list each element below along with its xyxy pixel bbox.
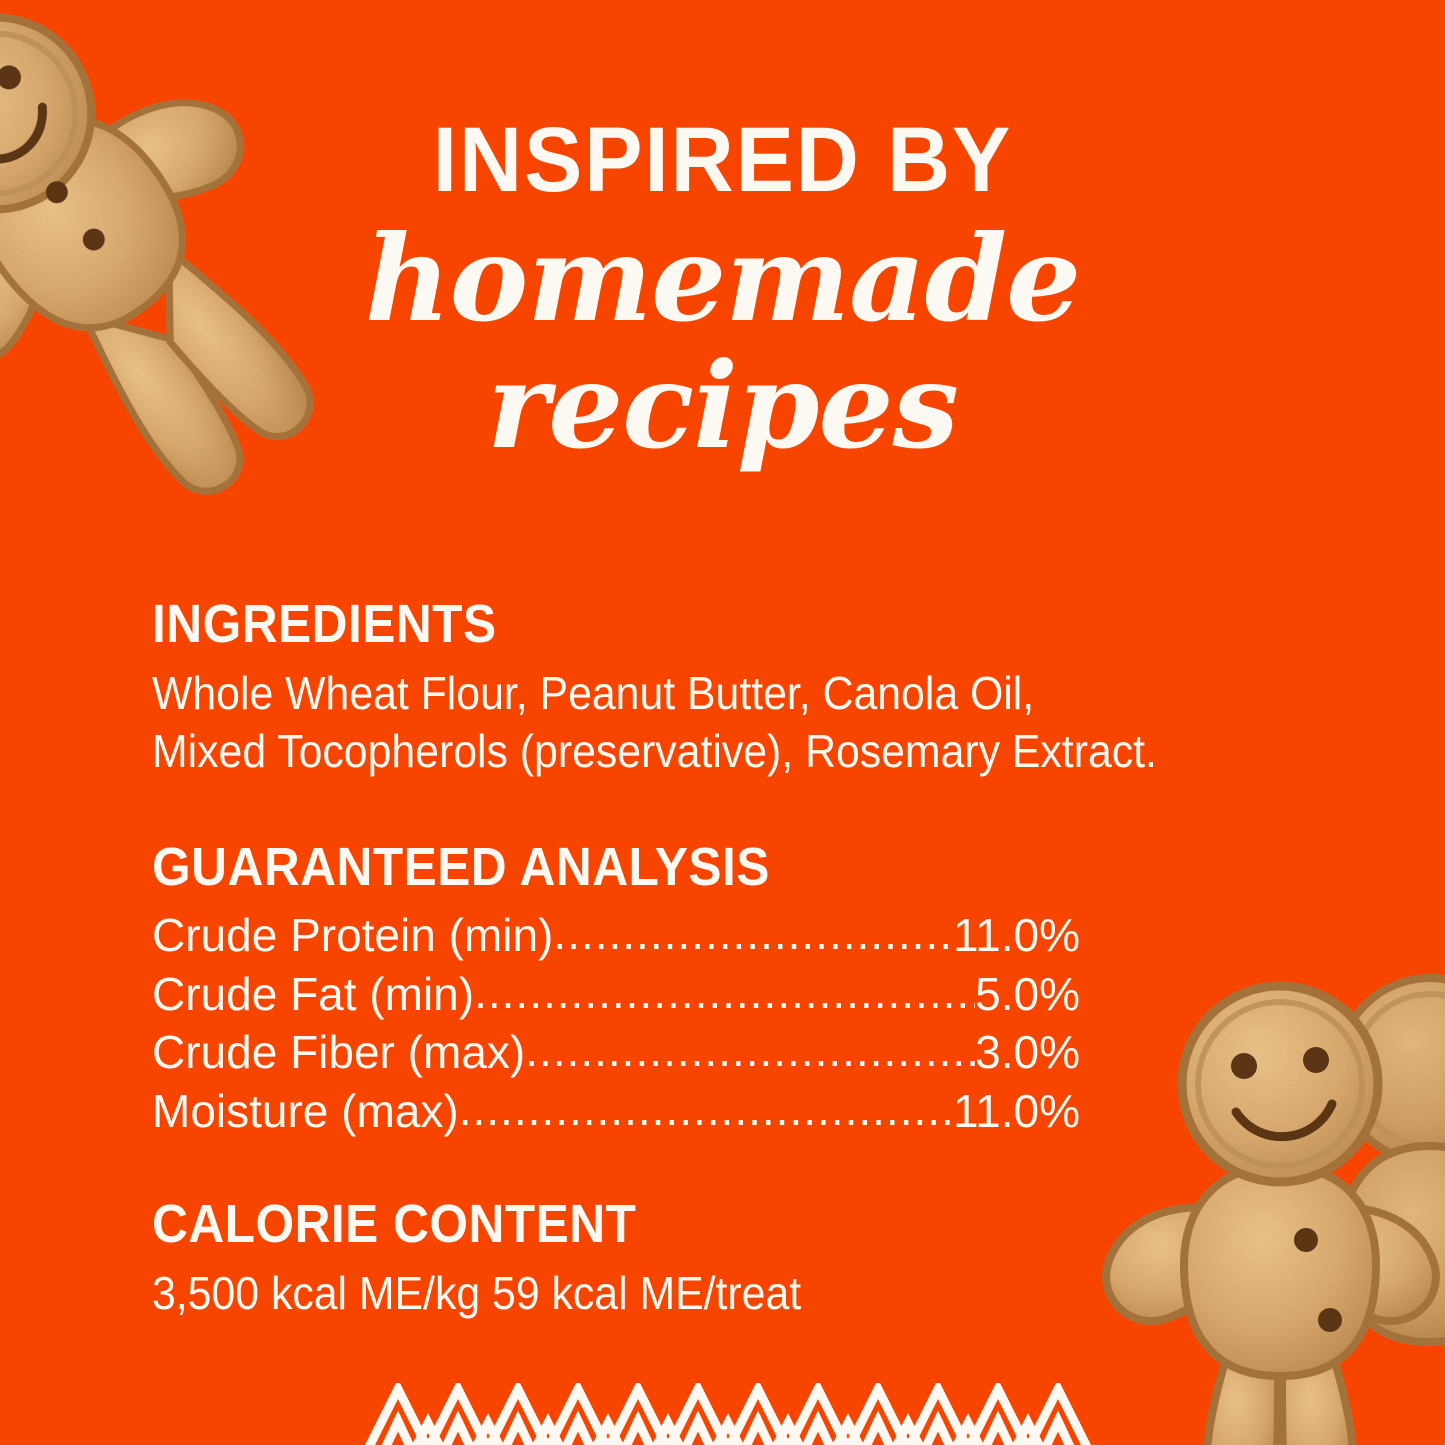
leader-dots: ........................................… <box>459 1080 953 1138</box>
calorie-content-block: CALORIE CONTENT 3,500 kcal ME/kg 59 kcal… <box>152 1196 1112 1323</box>
table-row: Crude Fat (min) ........................… <box>152 965 1080 1023</box>
ingredients-line-1: Whole Wheat Flour, Peanut Butter, Canola… <box>152 665 1045 723</box>
guaranteed-analysis-block: GUARANTEED ANALYSIS Crude Protein (min) … <box>152 839 1112 1140</box>
analysis-label: Crude Fat (min) <box>152 965 474 1023</box>
ingredients-block: INGREDIENTS Whole Wheat Flour, Peanut Bu… <box>152 596 1112 781</box>
table-row: Crude Fiber (max) ......................… <box>152 1023 1080 1081</box>
analysis-label: Moisture (max) <box>152 1082 459 1140</box>
analysis-value: 3.0% <box>975 1023 1080 1081</box>
calorie-content-heading: CALORIE CONTENT <box>152 1196 1035 1253</box>
analysis-value: 11.0% <box>953 1082 1080 1140</box>
hero-script-line2: recipes <box>0 349 1445 462</box>
analysis-value: 5.0% <box>975 965 1080 1023</box>
leader-dots: ........................................… <box>474 963 975 1021</box>
hero-eyebrow: INSPIRED BY <box>36 114 1409 206</box>
hero-script-line1: homemade <box>0 222 1445 335</box>
table-row: Moisture (max) .........................… <box>152 1082 1080 1140</box>
calorie-content-line: 3,500 kcal ME/kg 59 kcal ME/treat <box>152 1265 1045 1323</box>
analysis-label: Crude Fiber (max) <box>152 1023 525 1081</box>
ingredients-heading: INGREDIENTS <box>152 596 1035 653</box>
analysis-label: Crude Protein (min) <box>152 906 553 964</box>
ingredients-lines: Whole Wheat Flour, Peanut Butter, Canola… <box>152 665 1112 781</box>
table-row: Crude Protein (min) ....................… <box>152 906 1080 964</box>
guaranteed-analysis-heading: GUARANTEED ANALYSIS <box>152 839 1035 896</box>
gingerbread-cookie-bottom-right <box>1100 940 1445 1445</box>
ingredients-line-2: Mixed Tocopherols (preservative), Rosema… <box>152 723 1045 781</box>
analysis-value: 11.0% <box>953 906 1080 964</box>
guaranteed-analysis-table: Crude Protein (min) ....................… <box>152 906 1080 1140</box>
nutrition-panel: INGREDIENTS Whole Wheat Flour, Peanut Bu… <box>152 596 1112 1323</box>
leader-dots: ........................................… <box>525 1021 975 1079</box>
product-label-panel: INSPIRED BY homemade recipes INGREDIENTS… <box>0 0 1445 1445</box>
hero-script: homemade recipes <box>0 222 1445 463</box>
leader-dots: ........................................… <box>553 904 953 962</box>
